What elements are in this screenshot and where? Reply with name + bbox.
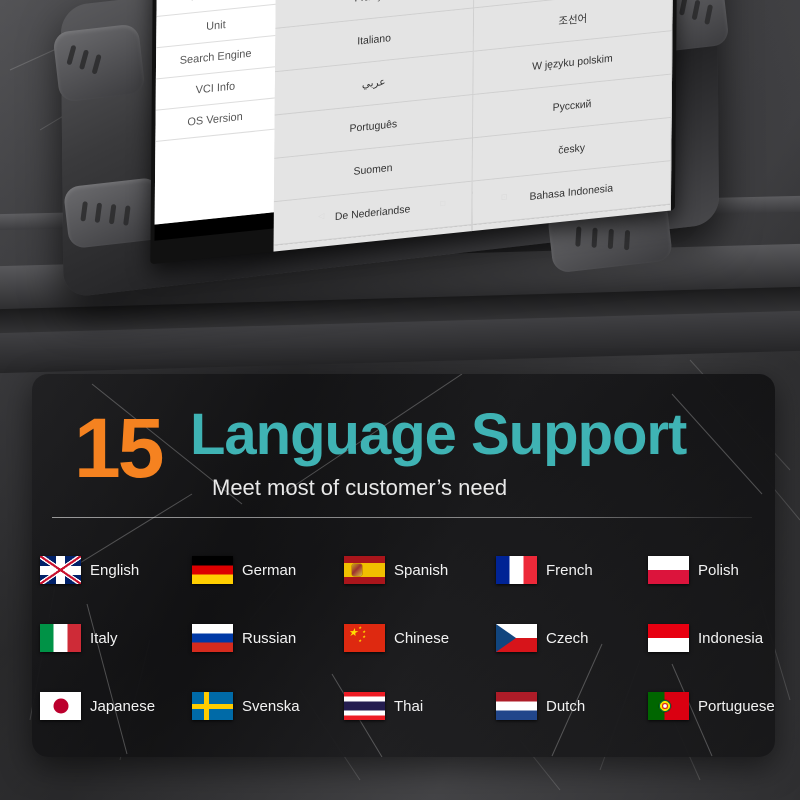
language-option-grid[interactable]: English Deutsch Français Español Italian… <box>274 0 674 212</box>
settings-sidebar[interactable]: Languages Run Mode Unit Search Engine VC… <box>155 0 277 225</box>
page-title: Language Support <box>190 406 686 464</box>
language-name: German <box>242 562 296 579</box>
language-name: English <box>90 562 139 579</box>
flag-sweden-icon <box>192 692 233 720</box>
count-badge: 15 <box>74 406 161 490</box>
list-item-french: French <box>496 556 648 584</box>
home-icon[interactable]: ○ <box>380 204 385 214</box>
list-item-indonesia: Indonesia <box>648 624 800 652</box>
language-row-1: English German Spanish French Polish <box>0 536 800 604</box>
language-name: Italy <box>90 630 118 647</box>
language-name: Thai <box>394 698 423 715</box>
flag-japan-icon <box>40 692 81 720</box>
list-item-svenska: Svenska <box>192 692 344 720</box>
list-item-polish: Polish <box>648 556 800 584</box>
flag-germany-icon <box>192 556 233 584</box>
language-row-2: Italy Russian ★ ★ ★ ★ ★ Chinese Czech <box>0 604 800 672</box>
flag-czech-icon <box>496 624 537 652</box>
flag-poland-icon <box>648 556 689 584</box>
language-name: Czech <box>546 630 589 647</box>
flag-uk-icon <box>40 556 81 584</box>
language-list: English German Spanish French Polish <box>0 536 800 740</box>
language-name: Polish <box>698 562 739 579</box>
tablet-device: 10:58 Languages Run Mode Unit Search Eng… <box>30 0 770 300</box>
flag-italy-icon <box>40 624 81 652</box>
list-item-chinese: ★ ★ ★ ★ ★ Chinese <box>344 624 496 652</box>
language-name: Portuguese <box>698 698 775 715</box>
recent-apps-icon[interactable]: □ <box>440 198 445 208</box>
list-item-dutch: Dutch <box>496 692 648 720</box>
list-item-spanish: Spanish <box>344 556 496 584</box>
list-item-italy: Italy <box>40 624 192 652</box>
back-icon[interactable]: ◁ <box>318 211 324 221</box>
flag-portugal-icon <box>648 692 689 720</box>
list-item-german: German <box>192 556 344 584</box>
screenshot-icon[interactable]: ⊡ <box>501 192 508 202</box>
list-item-thai: Thai <box>344 692 496 720</box>
divider <box>52 517 752 518</box>
language-name: Japanese <box>90 698 155 715</box>
flag-netherlands-icon <box>496 692 537 720</box>
list-item-portuguese: Portuguese <box>648 692 800 720</box>
list-item-japanese: Japanese <box>40 692 192 720</box>
product-banner: 10:58 Languages Run Mode Unit Search Eng… <box>0 0 800 800</box>
language-name: Chinese <box>394 630 449 647</box>
flag-spain-icon <box>344 556 385 584</box>
list-item-czech: Czech <box>496 624 648 652</box>
list-item-english: English <box>40 556 192 584</box>
flag-france-icon <box>496 556 537 584</box>
language-name: Indonesia <box>698 630 763 647</box>
language-row-3: Japanese Svenska Thai Dutch Portuguese <box>0 672 800 740</box>
language-name: Svenska <box>242 698 300 715</box>
tablet-bumper-top-left <box>52 23 145 102</box>
flag-thailand-icon <box>344 692 385 720</box>
language-name: Dutch <box>546 698 585 715</box>
list-item-russian: Russian <box>192 624 344 652</box>
language-name: Russian <box>242 630 296 647</box>
language-name: French <box>546 562 593 579</box>
language-name: Spanish <box>394 562 448 579</box>
flag-indonesia-icon <box>648 624 689 652</box>
flag-russia-icon <box>192 624 233 652</box>
flag-china-icon: ★ ★ ★ ★ ★ <box>344 624 385 652</box>
page-subtitle: Meet most of customer’s need <box>212 475 507 501</box>
